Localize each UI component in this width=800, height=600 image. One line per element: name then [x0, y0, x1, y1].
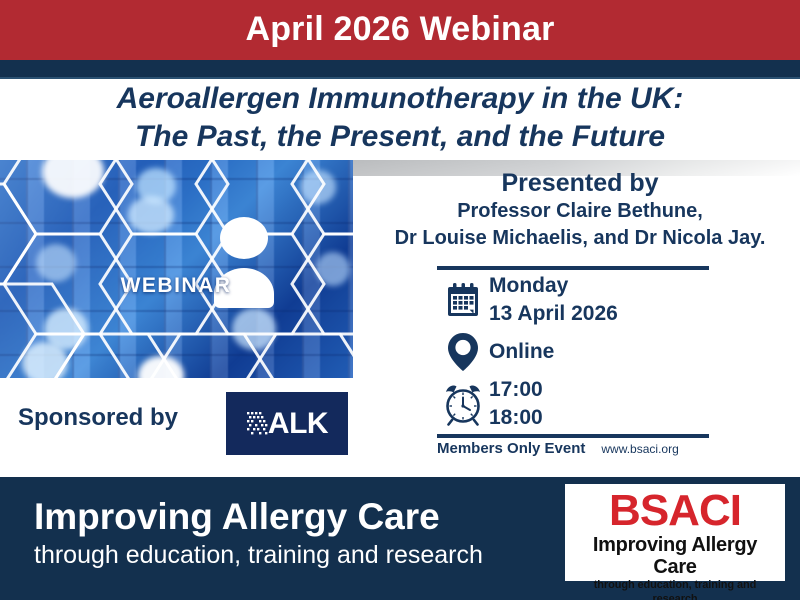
bsaci-logo-word: BSACI [571, 488, 779, 534]
detail-text-time: 17:00 18:00 [489, 376, 543, 432]
detail-row-time: 17:00 18:00 [437, 376, 727, 432]
detail-time-end: 18:00 [489, 404, 543, 432]
presenter-name-line-1: Professor Claire Bethune, [360, 198, 800, 225]
bottom-headline: Improving Allergy Care [34, 495, 554, 539]
detail-time-start: 17:00 [489, 376, 543, 404]
banner-title: April 2026 Webinar [245, 12, 554, 48]
bsaci-logo: BSACI Improving Allergy Care through edu… [565, 484, 785, 581]
detail-text-date: Monday 13 April 2026 [489, 272, 618, 328]
detail-date-full: 13 April 2026 [489, 300, 618, 328]
event-footer-note: Members Only Event www.bsaci.org [437, 440, 727, 457]
bsaci-logo-tagline-2: through education, training and research [571, 578, 779, 600]
members-only-label: Members Only Event [437, 440, 585, 457]
title-line-1: Aeroallergen Immunotherapy in the UK: [0, 80, 800, 118]
title-line-2: The Past, the Present, and the Future [0, 118, 800, 156]
alk-logo-inner: ALK [246, 409, 328, 439]
top-banner: April 2026 Webinar [0, 0, 800, 60]
page-title: Aeroallergen Immunotherapy in the UK: Th… [0, 80, 800, 160]
navy-divider-strip [0, 60, 800, 78]
navy-divider-hairline [0, 77, 800, 79]
bottom-subline: through education, training and research [34, 539, 554, 571]
detail-text-location: Online [489, 338, 554, 366]
presented-by-heading: Presented by [360, 168, 800, 198]
alarm-clock-icon [437, 381, 489, 427]
person-head-icon [220, 217, 268, 259]
calendar-icon [437, 279, 489, 321]
sponsored-by-label: Sponsored by [18, 404, 178, 432]
hero-hexagon-overlay [0, 160, 353, 378]
detail-location-value: Online [489, 338, 554, 366]
detail-row-date: Monday 13 April 2026 [437, 272, 727, 328]
webinar-badge-label: WEBINAR [96, 274, 256, 298]
website-link[interactable]: www.bsaci.org [601, 442, 678, 456]
webinar-hero-image: WEBINAR [0, 160, 353, 378]
presenter-block: Presented by Professor Claire Bethune, D… [360, 168, 800, 252]
bsaci-logo-tagline-1: Improving Allergy Care [571, 534, 779, 578]
webinar-poster: April 2026 Webinar Aeroallergen Immunoth… [0, 0, 800, 600]
details-top-rule [437, 266, 709, 270]
alk-logo: ALK [226, 392, 348, 455]
event-details-list: Monday 13 April 2026 Online [437, 272, 727, 434]
detail-row-location: Online [437, 330, 727, 374]
details-bottom-rule [437, 434, 709, 438]
alk-logo-text: ALK [268, 409, 328, 439]
detail-date-day: Monday [489, 272, 618, 300]
location-pin-icon [437, 330, 489, 374]
presenter-name-line-2: Dr Louise Michaelis, and Dr Nicola Jay. [360, 225, 800, 252]
bottom-tagline: Improving Allergy Care through education… [34, 495, 554, 571]
